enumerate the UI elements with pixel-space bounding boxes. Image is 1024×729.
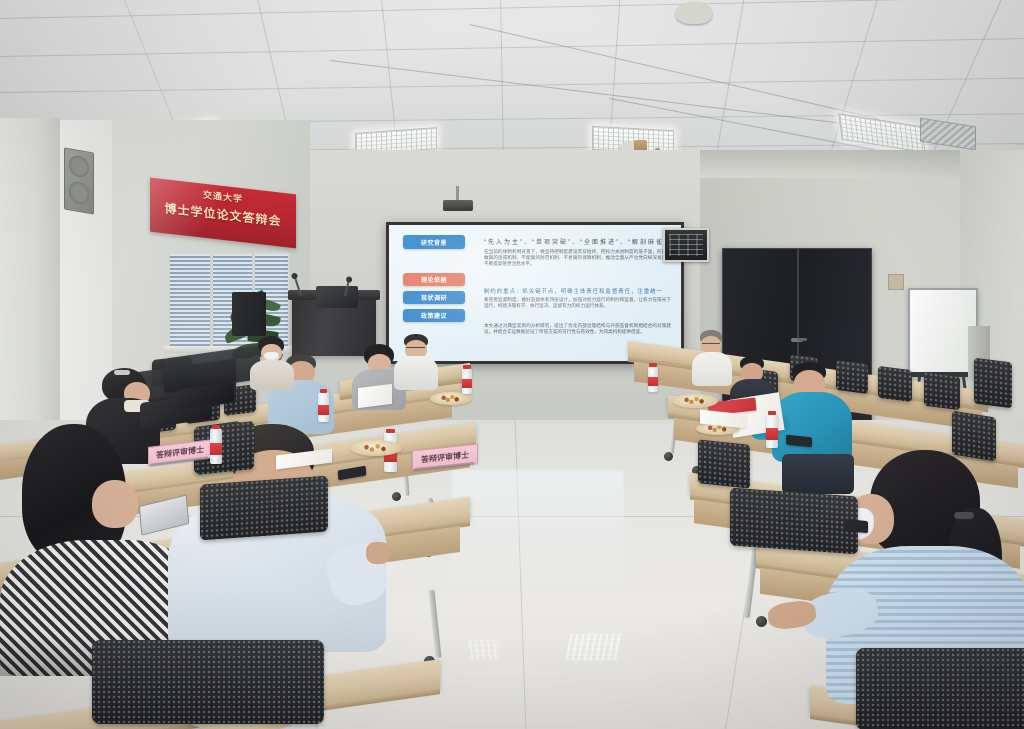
mobile-phone[interactable] [846,519,868,533]
ceiling-projector [443,200,473,211]
conference-chair[interactable] [730,488,858,555]
slide-paragraph-3: 本文通过对典型案例的分析研究，提出了优化内部治理结构与外部监督机制相结合的对策建… [484,323,671,335]
door-handle-secondary[interactable] [797,338,807,341]
conference-chair[interactable] [92,640,324,724]
floor-reflection-light [566,634,623,660]
torso [394,356,438,390]
conference-chair[interactable] [878,366,912,402]
table-caster [756,616,767,627]
bottle-label [766,428,778,440]
torso [250,360,294,390]
conference-chair[interactable] [974,358,1012,409]
bottle-cap [649,363,656,367]
slide-nav-item-1: 理论依据 [403,273,465,286]
hair-tie [954,512,974,519]
conference-chair[interactable] [856,648,1024,729]
slide-paragraph-1: 在当前的体制机制背景下，要坚持把制度建设贯穿始终，把权力关进制度的笼子里，形成不… [484,249,671,267]
slide-subheading: 制约的重点：抓关键节点，明确主体责任和监督责任，注重统一 [484,287,671,295]
table-caster [392,492,401,501]
light-switch-plate[interactable] [888,274,904,290]
snack-plate [672,394,718,408]
head [92,480,138,528]
slide-nav-item-3: 政策建议 [403,309,465,322]
bottle-cap [386,429,395,433]
background-monitor [232,292,266,336]
table-caster [664,452,673,461]
bottle-cap [320,389,328,393]
meeting-room-photo: 交通大学 博士学位论文答辩会 研究背景 理论依据 现状调研 政策建议 “先入为主… [0,0,1024,729]
person-white-shirt-left [394,334,438,390]
bottle-label [210,443,222,455]
slide-nav-item-2: 现状调研 [403,291,465,304]
person-elder-white-shirt [694,334,730,380]
slide-nav-item-0: 研究背景 [403,235,465,249]
wall-speaker [64,147,94,214]
lectern-monitor [316,286,358,308]
glasses [406,347,425,351]
slide-paragraph-2: 要完善监督制度，做好监督体系顶层设计，加强对权力运行的制约和监督，让权力在阳光下… [484,297,671,309]
person-masked-window [250,336,294,390]
floor-reflection-screen [452,470,624,590]
water-bottle [210,428,222,464]
hand [366,542,390,564]
smoke-detector [676,2,712,24]
water-bottle [318,392,329,422]
conference-chair[interactable] [200,476,328,541]
snack-plate [350,440,402,456]
slide-heading: “先入为主”、“单项突破”、“全面推进”、“解剖麻雀” [484,237,671,246]
wall-plaque [663,228,709,262]
bottle-cap [463,365,470,369]
conference-chair[interactable] [698,439,750,488]
bottle-cap [212,425,221,429]
bottle-label [318,405,329,415]
floor-reflection-light [469,640,502,660]
conference-chair[interactable] [924,372,960,410]
bottle-cap [768,411,777,415]
water-bottle [766,414,778,448]
left-pillar [0,118,60,468]
hair-clip [114,370,130,375]
bottle-label [462,379,472,388]
water-bottle [462,368,472,394]
water-bottle [648,366,658,392]
bottle-label [648,377,658,386]
documents [358,384,392,408]
